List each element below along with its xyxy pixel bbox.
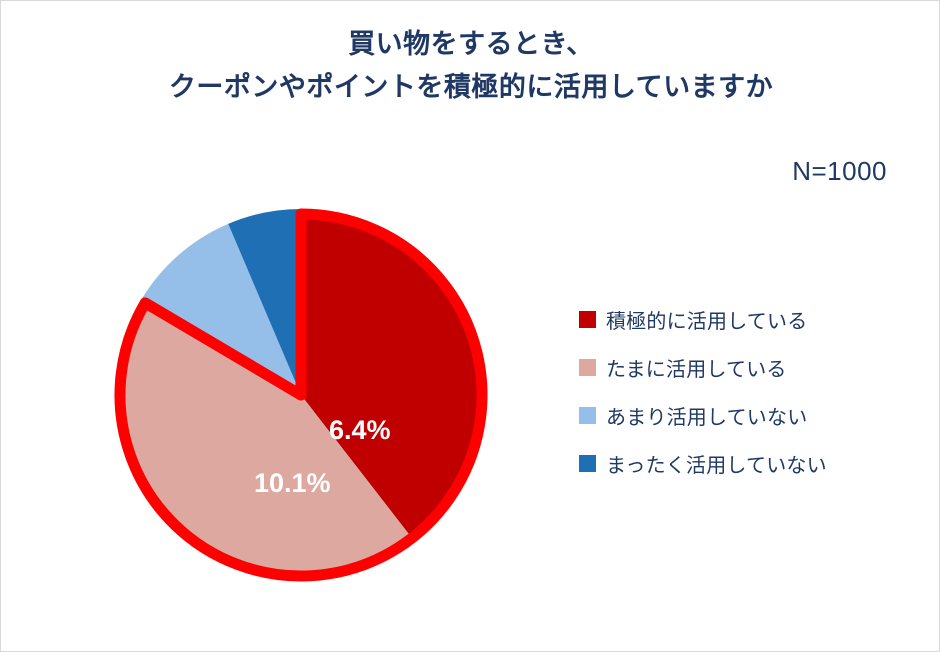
chart-legend: 積極的に活用している たまに活用している あまり活用していない まったく活用して… xyxy=(579,295,899,487)
legend-item-label: あまり活用していない xyxy=(606,401,807,430)
legend-item-3: まったく活用していない xyxy=(579,439,899,487)
pie-chart: 39.5% 44.0% 10.1% 6.4% xyxy=(99,193,509,597)
slice-data-label: 39.5% xyxy=(485,526,562,557)
slice-data-label: 6.4% xyxy=(329,415,391,446)
legend-item-2: あまり活用していない xyxy=(579,391,899,439)
legend-item-1: たまに活用している xyxy=(579,343,899,391)
pie-chart-svg xyxy=(99,193,509,597)
legend-swatch-icon xyxy=(579,311,596,328)
title-line-1: 買い物をするとき、 xyxy=(1,23,940,66)
legend-item-0: 積極的に活用している xyxy=(579,295,899,343)
title-line-2: クーポンやポイントを積極的に活用していますか xyxy=(1,66,940,109)
sample-size-label: N=1000 xyxy=(792,156,887,187)
legend-swatch-icon xyxy=(579,359,596,376)
legend-item-label: まったく活用していない xyxy=(606,449,827,478)
legend-swatch-icon xyxy=(579,455,596,472)
page-title: 買い物をするとき、 クーポンやポイントを積極的に活用していますか xyxy=(1,23,940,109)
slice-data-label: 10.1% xyxy=(254,468,331,499)
legend-item-label: たまに活用している xyxy=(606,353,787,382)
legend-swatch-icon xyxy=(579,407,596,424)
chart-page: 買い物をするとき、 クーポンやポイントを積極的に活用していますか N=1000 … xyxy=(0,0,940,652)
legend-item-label: 積極的に活用している xyxy=(606,305,807,334)
